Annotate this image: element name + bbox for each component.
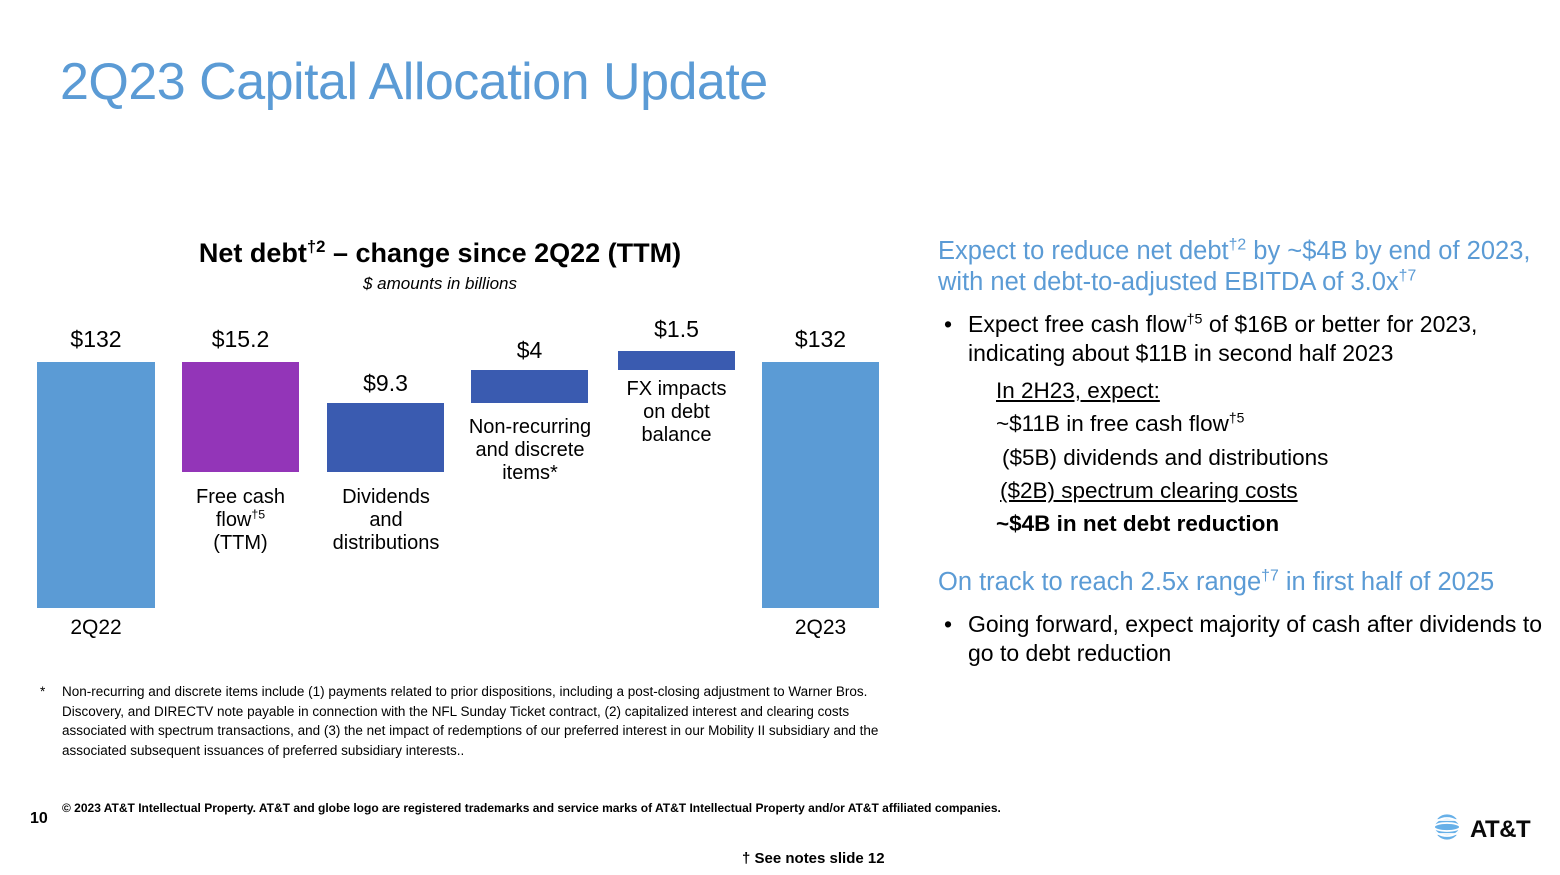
bar-value-2q22: $132: [37, 326, 155, 353]
dagger-7-superscript: †7: [1399, 268, 1417, 285]
bar-non-recurring: [471, 370, 588, 403]
right-content-column: Expect to reduce net debt†2 by ~$4B by e…: [938, 236, 1548, 674]
right-heading-2-part-b: in first half of 2025: [1279, 568, 1494, 596]
sub-line-3-text: ($2B) spectrum clearing costs: [1000, 478, 1298, 503]
bar-label-line-3: items*: [502, 462, 558, 484]
footnote: * Non-recurring and discrete items inclu…: [40, 682, 890, 760]
right-bullet-1-part-a: Expect free cash flow: [968, 311, 1187, 337]
sub-intro-text: In 2H23, expect:: [996, 378, 1160, 403]
bar-label-line-3: balance: [641, 424, 711, 446]
chart-title: Net debt†2 – change since 2Q22 (TTM): [0, 238, 880, 269]
chart-title-main: Net debt: [199, 238, 307, 268]
bar-label-non-recurring: Non-recurring and discrete items*: [452, 416, 608, 485]
page-title: 2Q23 Capital Allocation Update: [60, 52, 768, 112]
bullet-glyph: •: [944, 310, 952, 339]
chart-title-rest: – change since 2Q22 (TTM): [326, 238, 682, 268]
sub-line-3: ($2B) spectrum clearing costs: [996, 474, 1548, 507]
sub-line-2-text: ($5B) dividends and distributions: [1002, 445, 1328, 470]
sub-line-1-text: ~$11B in free cash flow: [996, 411, 1229, 436]
dagger-7-superscript: †7: [1261, 567, 1279, 584]
right-heading-2-part-a: On track to reach 2.5x range: [938, 568, 1261, 596]
dagger-2-superscript: †2: [1229, 237, 1247, 254]
sub-total-text: ~$4B in net debt reduction: [996, 511, 1279, 536]
bar-free-cash-flow: [182, 362, 299, 472]
sub-intro: In 2H23, expect:: [996, 374, 1548, 407]
bar-label-line-3: distributions: [333, 532, 440, 554]
slide-canvas: 2Q23 Capital Allocation Update Net debt†…: [0, 0, 1560, 875]
right-bullet-1: •Expect free cash flow†5 of $16B or bett…: [938, 310, 1548, 368]
chart-subtitle: $ amounts in billions: [0, 274, 880, 294]
axis-label-2q22: 2Q22: [37, 616, 155, 640]
right-heading-2: On track to reach 2.5x range†7 in first …: [938, 567, 1548, 598]
bar-value-fx-impacts: $1.5: [618, 316, 735, 343]
see-notes-reference: † See notes slide 12: [742, 850, 885, 867]
bar-label-line-2: flow†5: [216, 509, 265, 531]
waterfall-chart: Net debt†2 – change since 2Q22 (TTM) $ a…: [0, 230, 910, 650]
bar-value-2q23: $132: [762, 326, 879, 353]
bar-value-dividends: $9.3: [327, 370, 444, 397]
dagger-5-superscript: †5: [1187, 312, 1203, 328]
right-subblock: In 2H23, expect: ~$11B in free cash flow…: [938, 374, 1548, 540]
dagger-5-superscript: †5: [1229, 410, 1245, 426]
bar-label-fx-impacts: FX impacts on debt balance: [600, 378, 753, 447]
bar-label-line-1: Non-recurring: [469, 416, 591, 438]
footnote-marker: *: [40, 682, 45, 702]
bar-value-non-recurring: $4: [471, 337, 588, 364]
bar-2q23: [762, 362, 879, 608]
right-heading-1: Expect to reduce net debt†2 by ~$4B by e…: [938, 236, 1548, 298]
bar-label-dividends: Dividends and distributions: [308, 486, 464, 555]
bar-label-line-1: Dividends: [342, 486, 430, 508]
bullet-glyph: •: [944, 610, 952, 639]
right-heading-1-part-a: Expect to reduce net debt: [938, 237, 1229, 265]
bar-fx-impacts: [618, 351, 735, 370]
sub-line-2: ($5B) dividends and distributions: [996, 441, 1548, 474]
axis-label-2q23: 2Q23: [762, 616, 879, 640]
bar-label-line-3: (TTM): [213, 532, 267, 554]
bar-2q22: [37, 362, 155, 608]
att-wordmark: AT&T: [1470, 816, 1530, 844]
bar-dividends: [327, 403, 444, 472]
bar-label-line-2: on debt: [643, 401, 710, 423]
page-number: 10: [30, 810, 48, 828]
right-bullet-2: •Going forward, expect majority of cash …: [938, 610, 1548, 668]
dagger-2-superscript: †2: [307, 237, 326, 256]
footnote-text: Non-recurring and discrete items include…: [62, 682, 890, 760]
globe-icon: [1432, 812, 1462, 847]
bar-label-line-2: and discrete: [476, 439, 585, 461]
bar-label-free-cash-flow: Free cash flow†5 (TTM): [167, 486, 314, 555]
sub-total: ~$4B in net debt reduction: [996, 507, 1548, 540]
bar-label-line-1: Free cash: [196, 486, 285, 508]
spacer: [938, 541, 1548, 567]
copyright-notice: © 2023 AT&T Intellectual Property. AT&T …: [62, 801, 1001, 815]
dagger-5-superscript: †5: [251, 507, 265, 521]
bar-label-line-1: FX impacts: [626, 378, 726, 400]
bar-label-line-2: and: [369, 509, 402, 531]
right-bullet-2-text: Going forward, expect majority of cash a…: [968, 611, 1542, 666]
bar-value-free-cash-flow: $15.2: [182, 326, 299, 353]
att-logo: AT&T: [1432, 812, 1530, 847]
sub-line-1: ~$11B in free cash flow†5: [996, 407, 1548, 440]
